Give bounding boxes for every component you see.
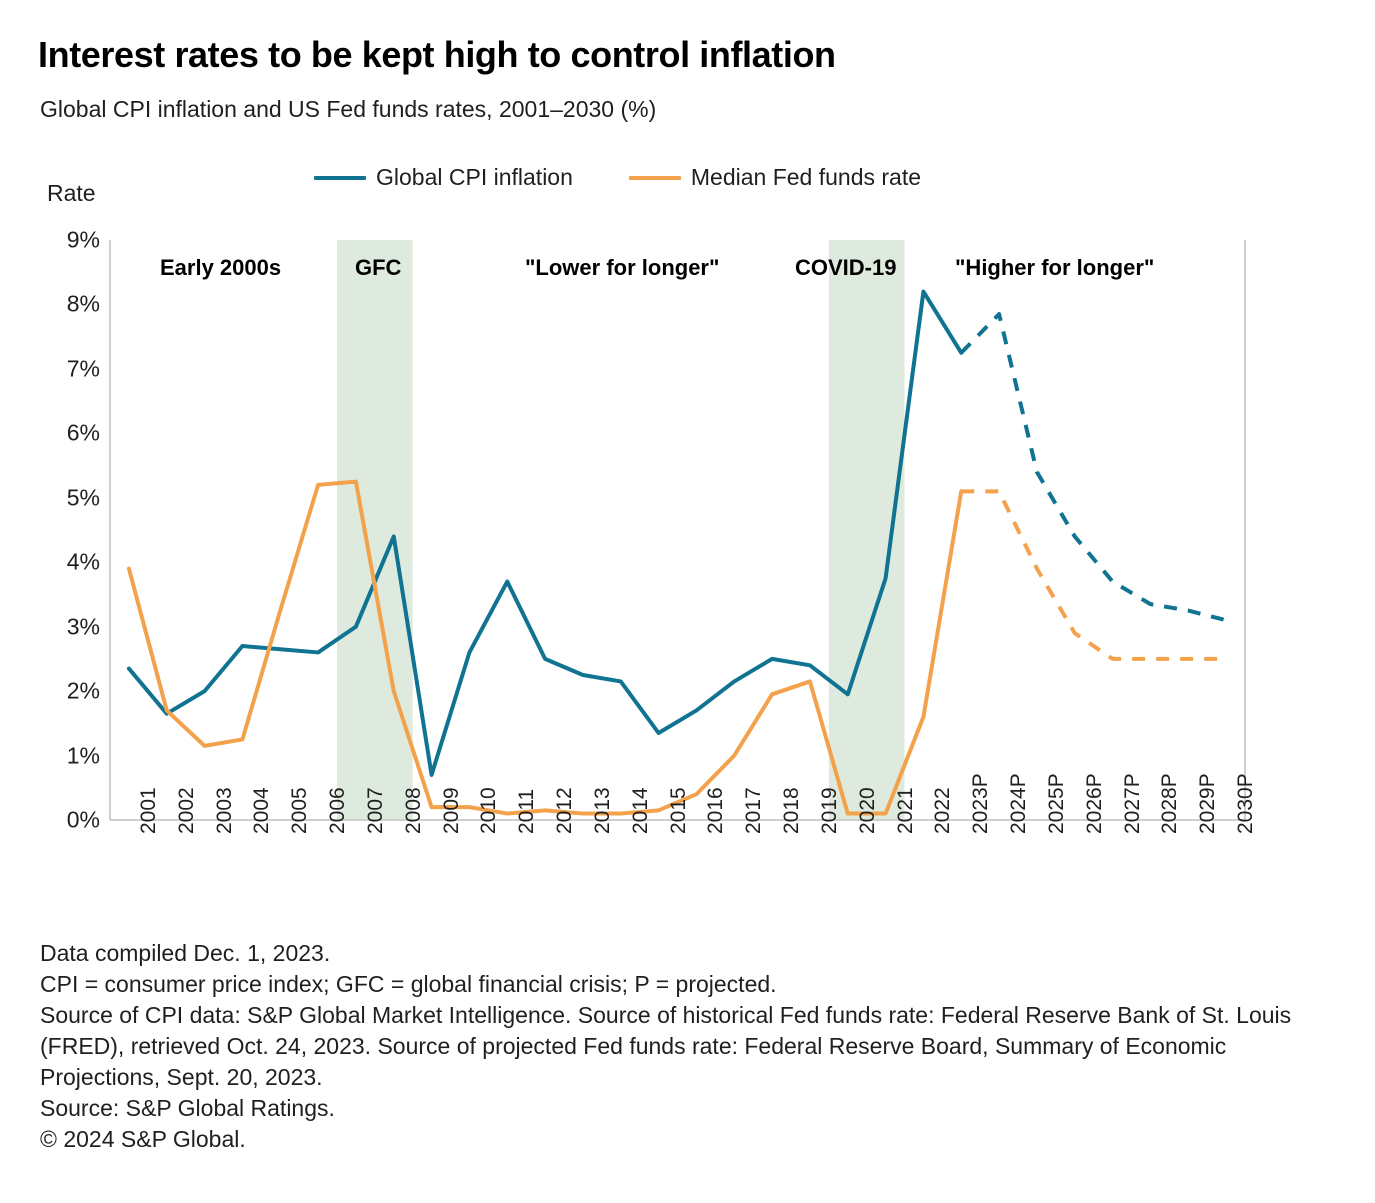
y-tick-1: 1% (38, 742, 100, 769)
legend-label-fedfunds: Median Fed funds rate (691, 164, 921, 191)
footnote-sources: Source of CPI data: S&P Global Market In… (40, 1000, 1305, 1093)
y-tick-7: 7% (38, 355, 100, 382)
x-tick-2002: 2002 (175, 787, 199, 834)
legend-item-fedfunds: Median Fed funds rate (629, 164, 921, 191)
legend-swatch-fedfunds (629, 176, 681, 180)
x-tick-2023P: 2023P (969, 773, 993, 834)
chart-page: Interest rates to be kept high to contro… (0, 0, 1375, 1198)
x-tick-2016: 2016 (704, 787, 728, 834)
x-tick-2005: 2005 (288, 787, 312, 834)
x-tick-2003: 2003 (213, 787, 237, 834)
y-tick-8: 8% (38, 291, 100, 318)
band-label-1: GFC (355, 255, 401, 281)
y-axis-title: Rate (47, 180, 96, 207)
band-label-3: COVID-19 (795, 255, 896, 281)
x-tick-2024P: 2024P (1007, 773, 1031, 834)
x-tick-2015: 2015 (667, 787, 691, 834)
x-tick-2004: 2004 (250, 787, 274, 834)
x-tick-2029P: 2029P (1196, 773, 1220, 834)
x-tick-2028P: 2028P (1158, 773, 1182, 834)
x-tick-2010: 2010 (477, 787, 501, 834)
x-tick-2009: 2009 (440, 787, 464, 834)
x-tick-2017: 2017 (742, 787, 766, 834)
footnote-source-ratings: Source: S&P Global Ratings. (40, 1093, 1340, 1124)
footnote-compiled: Data compiled Dec. 1, 2023. (40, 938, 1340, 969)
y-tick-3: 3% (38, 613, 100, 640)
legend-item-cpi: Global CPI inflation (314, 164, 573, 191)
x-tick-2007: 2007 (364, 787, 388, 834)
x-tick-2018: 2018 (780, 787, 804, 834)
x-tick-2013: 2013 (591, 787, 615, 834)
x-tick-2022: 2022 (931, 787, 955, 834)
page-title: Interest rates to be kept high to contro… (38, 34, 836, 76)
y-tick-2: 2% (38, 678, 100, 705)
x-tick-2027P: 2027P (1121, 773, 1145, 834)
chart-subtitle: Global CPI inflation and US Fed funds ra… (40, 96, 656, 123)
y-tick-9: 9% (38, 227, 100, 254)
x-tick-2025P: 2025P (1045, 773, 1069, 834)
legend-swatch-cpi (314, 176, 366, 180)
band-label-0: Early 2000s (160, 255, 281, 281)
legend-label-cpi: Global CPI inflation (376, 164, 573, 191)
band-label-2: "Lower for longer" (525, 255, 719, 281)
x-tick-2020: 2020 (856, 787, 880, 834)
chart-legend: Global CPI inflation Median Fed funds ra… (314, 164, 921, 191)
x-tick-2006: 2006 (326, 787, 350, 834)
x-tick-2001: 2001 (137, 787, 161, 834)
band-label-4: "Higher for longer" (955, 255, 1154, 281)
footnotes: Data compiled Dec. 1, 2023. CPI = consum… (40, 938, 1340, 1155)
y-tick-6: 6% (38, 420, 100, 447)
x-tick-2008: 2008 (402, 787, 426, 834)
x-tick-2021: 2021 (894, 787, 918, 834)
y-tick-0: 0% (38, 807, 100, 834)
x-tick-2019: 2019 (818, 787, 842, 834)
x-tick-2014: 2014 (629, 787, 653, 834)
y-tick-4: 4% (38, 549, 100, 576)
y-tick-5: 5% (38, 484, 100, 511)
footnote-copyright: © 2024 S&P Global. (40, 1124, 1340, 1155)
x-tick-2026P: 2026P (1083, 773, 1107, 834)
x-tick-2030P: 2030P (1234, 773, 1258, 834)
footnote-abbreviations: CPI = consumer price index; GFC = global… (40, 969, 1340, 1000)
x-tick-2011: 2011 (515, 789, 539, 834)
x-tick-2012: 2012 (553, 787, 577, 834)
